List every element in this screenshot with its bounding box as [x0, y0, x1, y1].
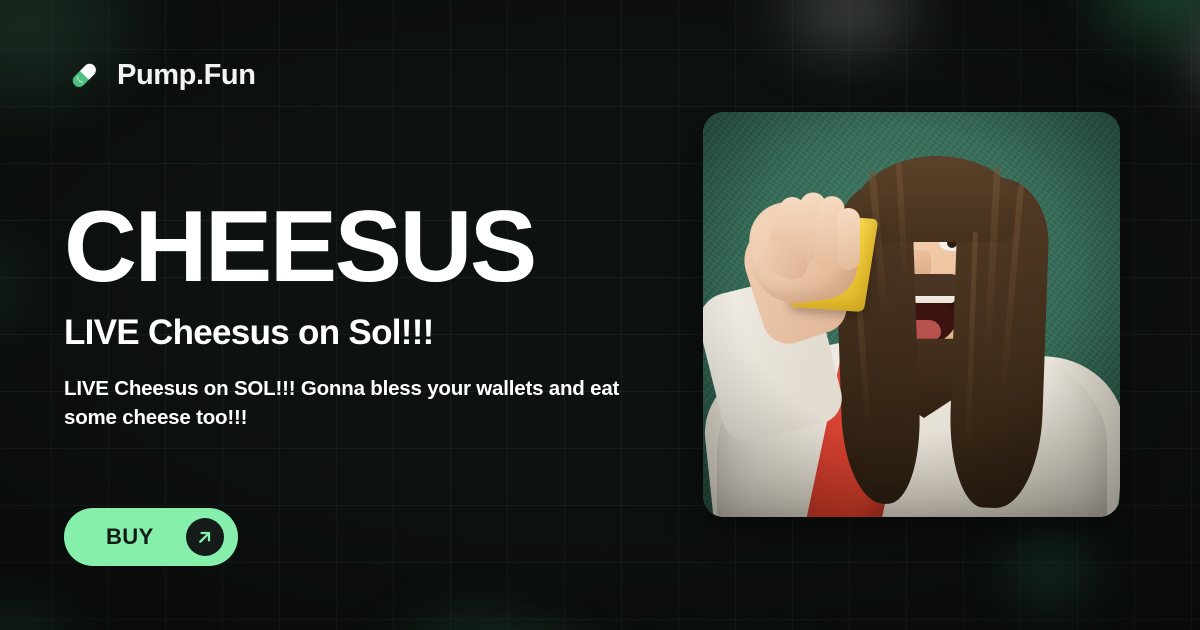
hero-description: LIVE Cheesus on SOL!!! Gonna bless your …	[64, 374, 639, 432]
brand-logo[interactable]: Pump.Fun	[64, 55, 256, 95]
glow-blob-bottom-left-corner	[0, 560, 130, 630]
glow-blob-bottom-left-green	[300, 555, 660, 630]
glow-blob-bottom-middle-gray	[420, 600, 700, 630]
brand-name: Pump.Fun	[117, 61, 256, 90]
glow-blob-left-middle	[0, 200, 60, 370]
glow-blob-top-middle	[720, 0, 980, 92]
arrow-up-right-icon	[186, 518, 224, 556]
glow-blob-bottom-edge	[520, 618, 940, 630]
photo-vignette	[703, 112, 1120, 517]
pill-capsule-icon	[64, 55, 104, 95]
token-image	[703, 112, 1120, 517]
page-title: CHEESUS	[64, 198, 664, 297]
token-image-card[interactable]	[703, 112, 1120, 517]
buy-button[interactable]: BUY	[64, 508, 238, 566]
buy-button-label: BUY	[106, 526, 154, 548]
hero-subtitle: LIVE Cheesus on Sol!!!	[64, 313, 664, 352]
og-card-canvas: Pump.Fun CHEESUS LIVE Cheesus on Sol!!! …	[0, 0, 1200, 630]
hero-content: CHEESUS LIVE Cheesus on Sol!!! LIVE Chee…	[64, 198, 664, 432]
glow-blob-top-right-gray	[1135, 0, 1200, 170]
glow-blob-top-right-green	[1020, 0, 1200, 110]
